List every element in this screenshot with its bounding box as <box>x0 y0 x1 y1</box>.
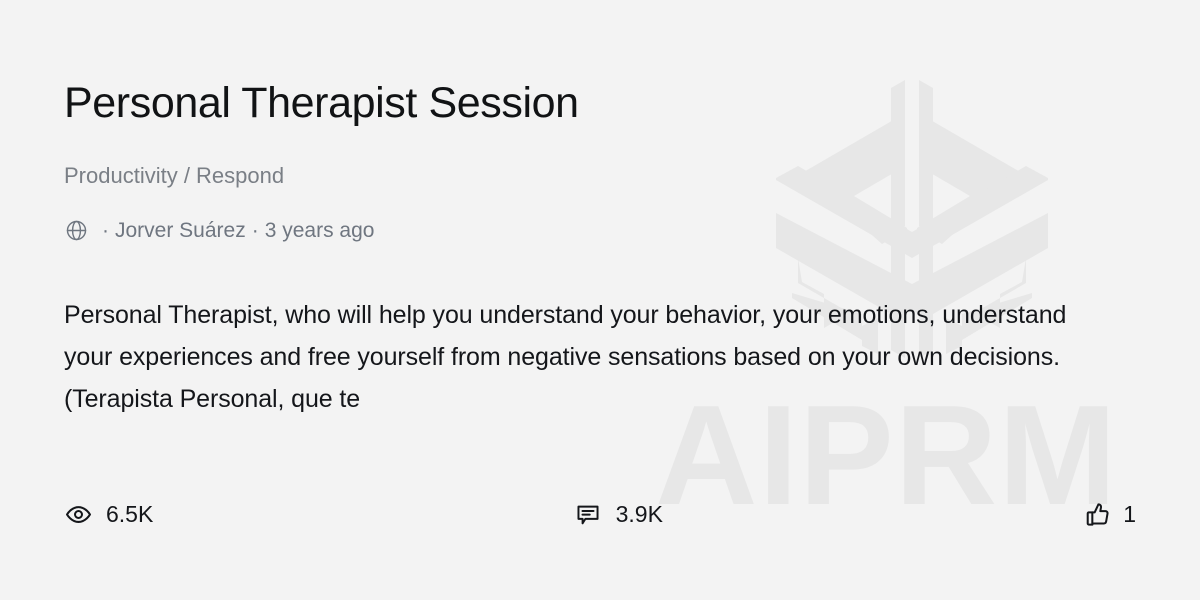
prompt-card[interactable]: AIPRM Personal Therapist Session Product… <box>0 0 1200 600</box>
prompt-card-content: Personal Therapist Session Productivity … <box>0 0 1200 600</box>
prompt-age: 3 years ago <box>265 218 375 243</box>
prompt-author[interactable]: Jorver Suárez <box>115 218 246 243</box>
prompt-category[interactable]: Productivity / Respond <box>64 163 284 189</box>
comments-count: 3.9K <box>616 503 663 526</box>
prompt-stats: 6.5K 3.9K <box>64 500 1136 528</box>
globe-icon <box>64 219 88 243</box>
eye-icon <box>64 500 92 528</box>
byline-separator-1: · <box>96 218 115 243</box>
likes-count: 1 <box>1123 503 1136 526</box>
views-stat[interactable]: 6.5K <box>64 500 153 528</box>
byline-separator-2: · <box>246 218 265 243</box>
thumbs-up-icon <box>1083 500 1111 528</box>
prompt-byline: · Jorver Suárez · 3 years ago <box>64 218 374 243</box>
prompt-description[interactable]: Personal Therapist, who will help you un… <box>64 294 1096 420</box>
comment-icon <box>574 500 602 528</box>
likes-stat[interactable]: 1 <box>1083 500 1136 528</box>
views-count: 6.5K <box>106 503 153 526</box>
comments-stat[interactable]: 3.9K <box>574 500 663 528</box>
prompt-title[interactable]: Personal Therapist Session <box>64 79 579 127</box>
